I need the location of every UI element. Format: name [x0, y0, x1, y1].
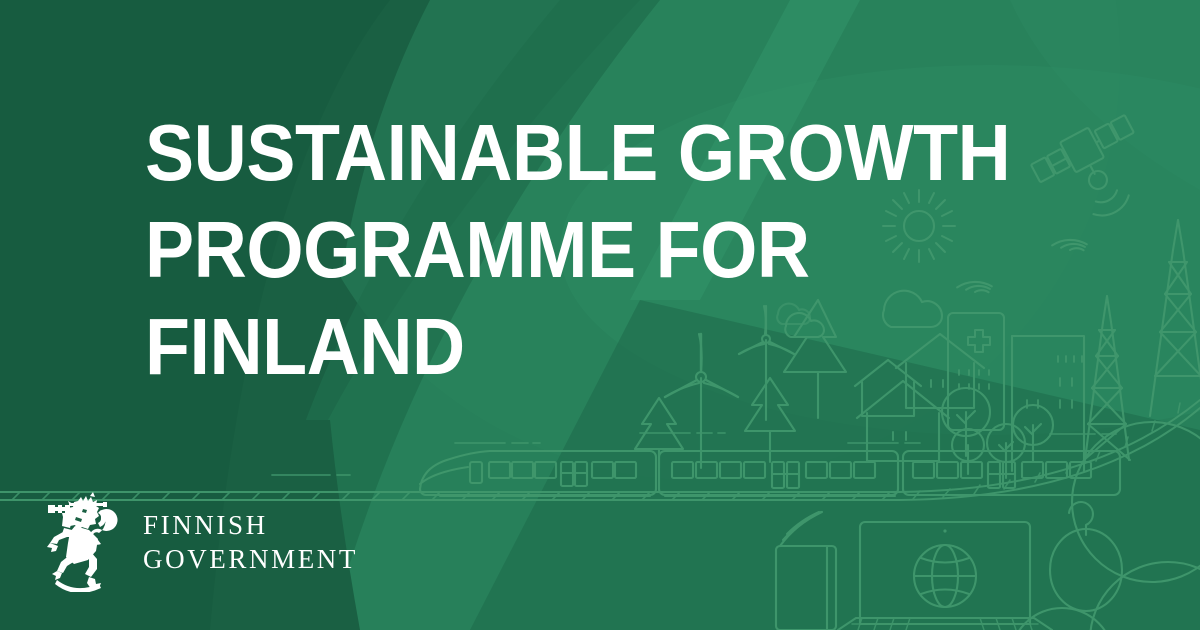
logo-wordmark: FINNISH GOVERNMENT [143, 508, 358, 576]
headline-line-3: FINLAND [145, 298, 1010, 395]
finnish-coat-of-arms-lion-icon [45, 492, 119, 592]
banner: SUSTAINABLE GROWTH PROGRAMME FOR FINLAND [0, 0, 1200, 630]
logo-line-government: GOVERNMENT [143, 542, 358, 576]
logo-line-finnish: FINNISH [143, 508, 358, 542]
headline-line-2: PROGRAMME FOR [145, 201, 1010, 298]
page-title: SUSTAINABLE GROWTH PROGRAMME FOR FINLAND [145, 104, 1086, 395]
finnish-government-logo: FINNISH GOVERNMENT [45, 492, 358, 592]
headline-line-1: SUSTAINABLE GROWTH [145, 104, 1010, 201]
